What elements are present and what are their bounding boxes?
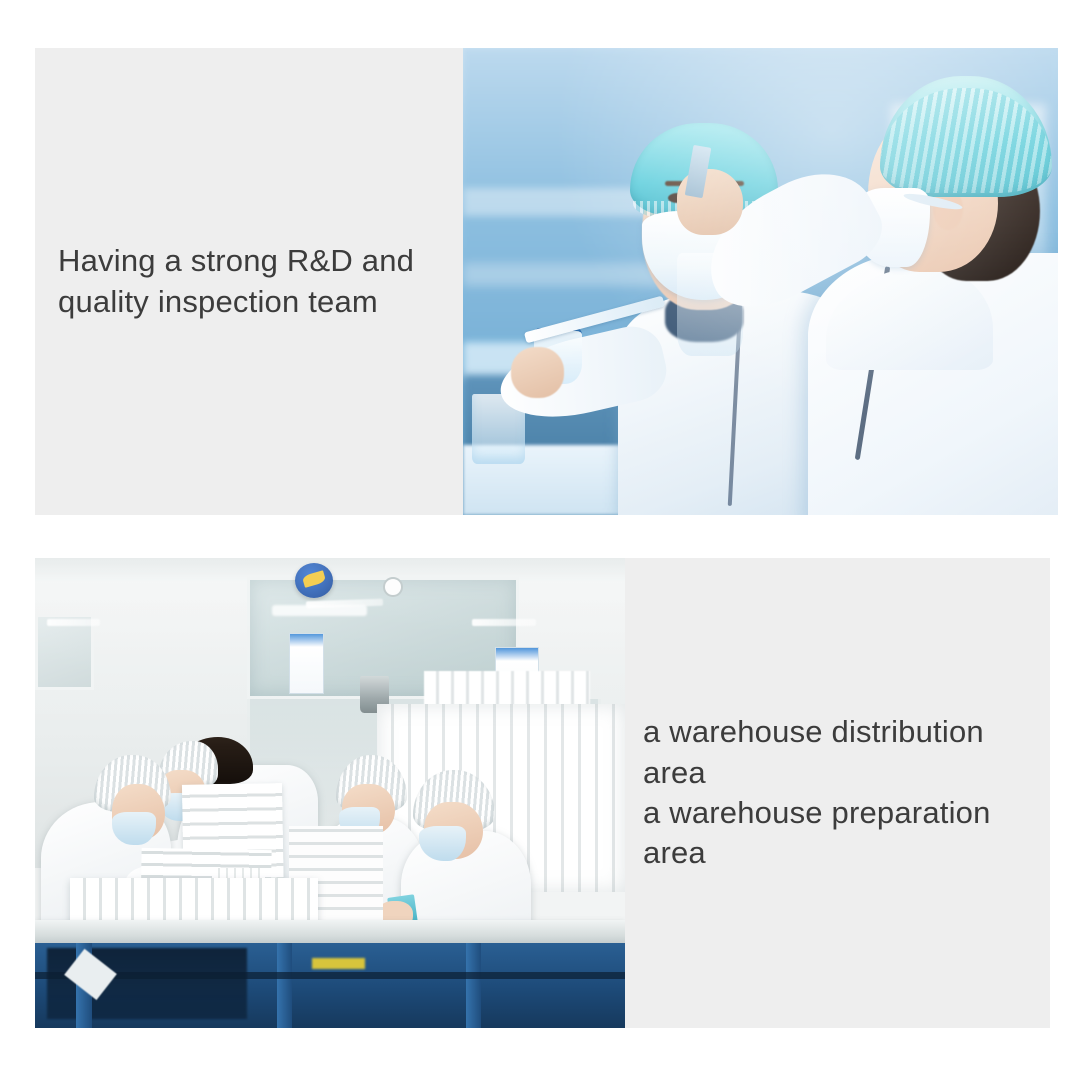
- table-cross-brace: [35, 972, 625, 980]
- warehouse-packing-photo: [35, 558, 625, 1028]
- section-warehouse-areas: a warehouse distribution area a warehous…: [35, 558, 1050, 1028]
- lab-qc-technicians-photo: [463, 48, 1058, 515]
- company-logo-sign: [295, 563, 333, 598]
- table-yellow-marker: [312, 958, 365, 970]
- info-placard-left: [289, 633, 324, 694]
- rnd-quality-caption: Having a strong R&D and quality inspecti…: [58, 241, 414, 322]
- technician-one-hand: [511, 347, 565, 398]
- wall-clock: [383, 577, 403, 597]
- warehouse-caption-cell: a warehouse distribution area a warehous…: [625, 558, 1050, 1028]
- worker-one-face-mask: [112, 812, 156, 845]
- banner-page: Having a strong R&D and quality inspecti…: [0, 0, 1080, 1080]
- table-leg-center: [277, 943, 292, 1028]
- ceiling-lamp-right: [472, 619, 537, 626]
- section-rnd-quality: Having a strong R&D and quality inspecti…: [35, 48, 1058, 515]
- ceiling-lamp-left: [47, 619, 100, 626]
- table-leg-right: [466, 943, 481, 1028]
- warehouse-caption: a warehouse distribution area a warehous…: [643, 712, 1050, 873]
- rnd-quality-caption-cell: Having a strong R&D and quality inspecti…: [35, 48, 463, 515]
